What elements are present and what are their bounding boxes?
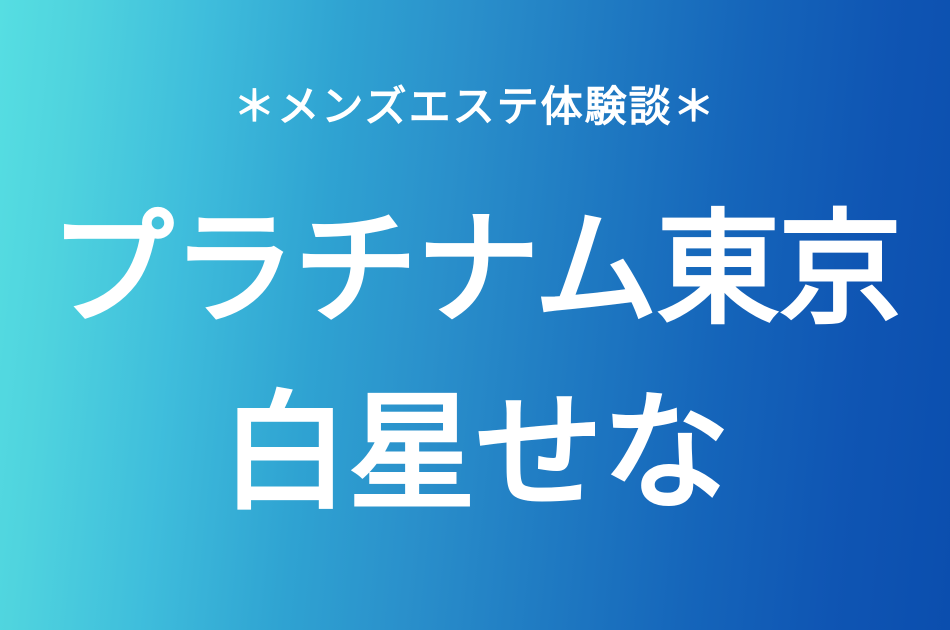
page-title: プラチナム東京	[0, 208, 950, 332]
subject-name: 白星せな	[0, 390, 950, 518]
kicker-text: ＊メンズエステ体験談＊	[0, 86, 950, 128]
title-card: ＊メンズエステ体験談＊ プラチナム東京 白星せな	[0, 0, 950, 630]
